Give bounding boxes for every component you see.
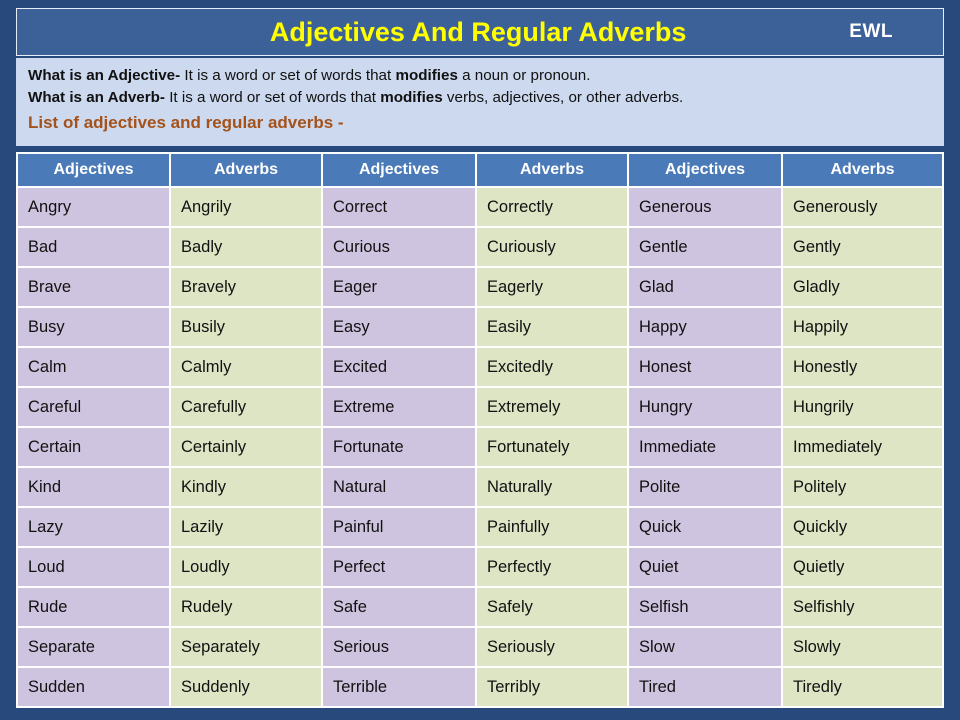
cell-adverb: Slowly <box>783 628 944 668</box>
table-row: CarefulCarefullyExtremeExtremelyHungryHu… <box>16 388 944 428</box>
column-header-adverbs-2: Adverbs <box>477 152 629 188</box>
cell-adjective: Safe <box>323 588 477 628</box>
definition-adjective-emphasis: modifies <box>395 67 457 84</box>
cell-adjective: Quick <box>629 508 783 548</box>
list-heading: List of adjectives and regular adverbs - <box>28 109 944 136</box>
cell-adjective: Tired <box>629 668 783 708</box>
cell-adverb: Gladly <box>783 268 944 308</box>
cell-adverb: Fortunately <box>477 428 629 468</box>
cell-adjective: Correct <box>323 188 477 228</box>
cell-adverb: Loudly <box>171 548 323 588</box>
cell-adjective: Polite <box>629 468 783 508</box>
column-header-adjectives-1: Adjectives <box>16 152 171 188</box>
cell-adjective: Eager <box>323 268 477 308</box>
definition-adjective-text-1: It is a word or set of words that <box>180 67 395 84</box>
cell-adverb: Politely <box>783 468 944 508</box>
cell-adverb: Kindly <box>171 468 323 508</box>
table-row: KindKindlyNaturalNaturallyPolitePolitely <box>16 468 944 508</box>
definition-adjective-text-2: a noun or pronoun. <box>458 67 591 84</box>
column-header-adjectives-3: Adjectives <box>629 152 783 188</box>
cell-adverb: Terribly <box>477 668 629 708</box>
table-header-row: Adjectives Adverbs Adjectives Adverbs Ad… <box>16 152 944 188</box>
cell-adverb: Perfectly <box>477 548 629 588</box>
cell-adjective: Loud <box>16 548 171 588</box>
cell-adverb: Tiredly <box>783 668 944 708</box>
table-body: AngryAngrilyCorrectCorrectlyGenerousGene… <box>16 188 944 708</box>
definitions-panel: What is an Adjective- It is a word or se… <box>16 58 944 146</box>
cell-adverb: Lazily <box>171 508 323 548</box>
cell-adverb: Painfully <box>477 508 629 548</box>
cell-adverb: Eagerly <box>477 268 629 308</box>
column-header-adverbs-3: Adverbs <box>783 152 944 188</box>
cell-adjective: Lazy <box>16 508 171 548</box>
cell-adjective: Fortunate <box>323 428 477 468</box>
cell-adverb: Gently <box>783 228 944 268</box>
definition-adjective-label: What is an Adjective- <box>28 67 180 84</box>
cell-adjective: Careful <box>16 388 171 428</box>
cell-adjective: Angry <box>16 188 171 228</box>
cell-adverb: Honestly <box>783 348 944 388</box>
cell-adjective: Extreme <box>323 388 477 428</box>
cell-adjective: Rude <box>16 588 171 628</box>
brand-logo: EWL <box>849 21 943 43</box>
cell-adverb: Badly <box>171 228 323 268</box>
definition-adjective: What is an Adjective- It is a word or se… <box>28 65 944 87</box>
cell-adverb: Seriously <box>477 628 629 668</box>
cell-adjective: Selfish <box>629 588 783 628</box>
cell-adverb: Easily <box>477 308 629 348</box>
title-bar: Adjectives And Regular Adverbs EWL <box>16 8 944 56</box>
table-row: CertainCertainlyFortunateFortunatelyImme… <box>16 428 944 468</box>
cell-adverb: Angrily <box>171 188 323 228</box>
cell-adjective: Perfect <box>323 548 477 588</box>
definition-adverb-text-2: verbs, adjectives, or other adverbs. <box>443 89 684 106</box>
table-row: BadBadlyCuriousCuriouslyGentleGently <box>16 228 944 268</box>
cell-adjective: Gentle <box>629 228 783 268</box>
table-row: LazyLazilyPainfulPainfullyQuickQuickly <box>16 508 944 548</box>
cell-adverb: Extremely <box>477 388 629 428</box>
cell-adverb: Selfishly <box>783 588 944 628</box>
cell-adjective: Happy <box>629 308 783 348</box>
cell-adjective: Slow <box>629 628 783 668</box>
cell-adjective: Certain <box>16 428 171 468</box>
cell-adverb: Immediately <box>783 428 944 468</box>
cell-adverb: Excitedly <box>477 348 629 388</box>
cell-adjective: Separate <box>16 628 171 668</box>
cell-adverb: Hungrily <box>783 388 944 428</box>
cell-adverb: Bravely <box>171 268 323 308</box>
cell-adjective: Brave <box>16 268 171 308</box>
cell-adjective: Immediate <box>629 428 783 468</box>
cell-adjective: Honest <box>629 348 783 388</box>
cell-adverb: Happily <box>783 308 944 348</box>
column-header-adverbs-1: Adverbs <box>171 152 323 188</box>
definition-adverb-emphasis: modifies <box>380 89 442 106</box>
cell-adverb: Safely <box>477 588 629 628</box>
cell-adverb: Calmly <box>171 348 323 388</box>
cell-adjective: Quiet <box>629 548 783 588</box>
cell-adverb: Quickly <box>783 508 944 548</box>
table-row: CalmCalmlyExcitedExcitedlyHonestHonestly <box>16 348 944 388</box>
cell-adverb: Suddenly <box>171 668 323 708</box>
cell-adjective: Hungry <box>629 388 783 428</box>
table-header: Adjectives Adverbs Adjectives Adverbs Ad… <box>16 152 944 188</box>
cell-adverb: Separately <box>171 628 323 668</box>
cell-adverb: Rudely <box>171 588 323 628</box>
cell-adjective: Serious <box>323 628 477 668</box>
cell-adverb: Quietly <box>783 548 944 588</box>
cell-adverb: Certainly <box>171 428 323 468</box>
cell-adjective: Bad <box>16 228 171 268</box>
cell-adjective: Painful <box>323 508 477 548</box>
adjectives-adverbs-table: Adjectives Adverbs Adjectives Adverbs Ad… <box>16 152 944 708</box>
table-row: SeparateSeparatelySeriousSeriouslySlowSl… <box>16 628 944 668</box>
cell-adjective: Easy <box>323 308 477 348</box>
column-header-adjectives-2: Adjectives <box>323 152 477 188</box>
table-row: BusyBusilyEasyEasilyHappyHappily <box>16 308 944 348</box>
cell-adjective: Busy <box>16 308 171 348</box>
cell-adjective: Generous <box>629 188 783 228</box>
page-title: Adjectives And Regular Adverbs <box>17 17 849 48</box>
cell-adverb: Generously <box>783 188 944 228</box>
definition-adverb-label: What is an Adverb- <box>28 89 165 106</box>
table-row: RudeRudelySafeSafelySelfishSelfishly <box>16 588 944 628</box>
cell-adjective: Calm <box>16 348 171 388</box>
cell-adjective: Terrible <box>323 668 477 708</box>
cell-adverb: Naturally <box>477 468 629 508</box>
table-row: BraveBravelyEagerEagerlyGladGladly <box>16 268 944 308</box>
table-row: SuddenSuddenlyTerribleTerriblyTiredTired… <box>16 668 944 708</box>
slide-root: Adjectives And Regular Adverbs EWL What … <box>0 0 960 720</box>
cell-adverb: Busily <box>171 308 323 348</box>
cell-adverb: Carefully <box>171 388 323 428</box>
cell-adjective: Natural <box>323 468 477 508</box>
cell-adjective: Excited <box>323 348 477 388</box>
cell-adjective: Glad <box>629 268 783 308</box>
definition-adverb: What is an Adverb- It is a word or set o… <box>28 87 944 109</box>
table-row: AngryAngrilyCorrectCorrectlyGenerousGene… <box>16 188 944 228</box>
cell-adjective: Sudden <box>16 668 171 708</box>
definition-adverb-text-1: It is a word or set of words that <box>165 89 380 106</box>
cell-adverb: Curiously <box>477 228 629 268</box>
cell-adjective: Curious <box>323 228 477 268</box>
cell-adjective: Kind <box>16 468 171 508</box>
cell-adverb: Correctly <box>477 188 629 228</box>
table-row: LoudLoudlyPerfectPerfectlyQuietQuietly <box>16 548 944 588</box>
